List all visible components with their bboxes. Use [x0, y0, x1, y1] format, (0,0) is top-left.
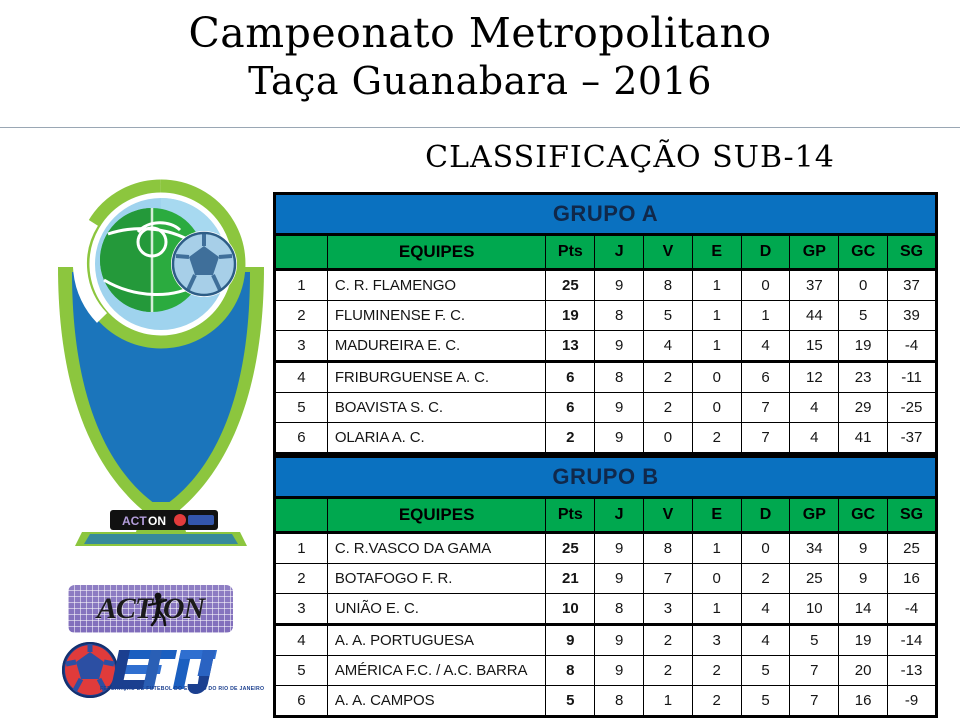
cell-sg: 16	[888, 564, 937, 594]
col-header-d[interactable]: D	[741, 235, 790, 270]
cell-pts: 25	[546, 270, 595, 301]
cell-v: 2	[644, 393, 693, 423]
cell-gp: 7	[790, 656, 839, 686]
cell-e: 2	[692, 656, 741, 686]
standings-page: Campeonato Metropolitano Taça Guanabara …	[0, 0, 960, 720]
ferj-logo-subtitle: FEDERAÇÃO DE FUTEBOL DO ESTADO DO RIO DE…	[100, 686, 268, 692]
table-row[interactable]: 1C. R. FLAMENGO25981037037	[275, 270, 937, 301]
cell-team-name: FRIBURGUENSE A. C.	[327, 362, 546, 393]
cell-v: 8	[644, 270, 693, 301]
cell-sg: 39	[888, 301, 937, 331]
cell-sg: -14	[888, 625, 937, 656]
cell-e: 2	[692, 686, 741, 717]
col-header-team[interactable]: EQUIPES	[327, 498, 546, 533]
col-header-pts[interactable]: Pts	[546, 235, 595, 270]
col-header-pts[interactable]: Pts	[546, 498, 595, 533]
cell-d: 5	[741, 686, 790, 717]
cell-gp: 15	[790, 331, 839, 362]
cell-pts: 19	[546, 301, 595, 331]
cell-team-name: C. R. FLAMENGO	[327, 270, 546, 301]
cell-gc: 41	[839, 423, 888, 454]
cell-d: 0	[741, 270, 790, 301]
cell-pts: 6	[546, 393, 595, 423]
cell-position: 1	[275, 270, 328, 301]
cell-gc: 29	[839, 393, 888, 423]
table-row[interactable]: 4FRIBURGUENSE A. C.682061223-11	[275, 362, 937, 393]
standings-body-group-b: 1C. R.VASCO DA GAMA259810349252BOTAFOGO …	[275, 533, 937, 717]
col-header-gp[interactable]: GP	[790, 235, 839, 270]
cell-position: 4	[275, 362, 328, 393]
svg-text:ACT: ACT	[122, 514, 147, 528]
cell-d: 0	[741, 533, 790, 564]
cell-team-name: UNIÃO E. C.	[327, 594, 546, 625]
cell-sg: -4	[888, 594, 937, 625]
column-header-row: EQUIPES Pts J V E D GP GC SG	[275, 235, 937, 270]
table-row[interactable]: 5BOAVISTA S. C.69207429-25	[275, 393, 937, 423]
cell-e: 3	[692, 625, 741, 656]
cell-gp: 4	[790, 393, 839, 423]
cell-gp: 5	[790, 625, 839, 656]
trophy-logo: ACT ON	[52, 172, 270, 550]
col-header-team[interactable]: EQUIPES	[327, 235, 546, 270]
cell-gc: 9	[839, 564, 888, 594]
col-header-pos[interactable]	[275, 498, 328, 533]
svg-text:ON: ON	[148, 514, 166, 528]
column-header-row: EQUIPES Pts J V E D GP GC SG	[275, 498, 937, 533]
action-logo: ACTION	[68, 585, 233, 633]
cell-d: 5	[741, 656, 790, 686]
cell-sg: -4	[888, 331, 937, 362]
cell-v: 2	[644, 362, 693, 393]
standings-body-group-a: 1C. R. FLAMENGO259810370372FLUMINENSE F.…	[275, 270, 937, 454]
cell-v: 7	[644, 564, 693, 594]
cell-d: 4	[741, 594, 790, 625]
cell-j: 9	[595, 564, 644, 594]
ferj-logo: FEDERAÇÃO DE FUTEBOL DO ESTADO DO RIO DE…	[58, 636, 263, 708]
title-line-1: Campeonato Metropolitano	[0, 8, 960, 58]
cell-team-name: A. A. CAMPOS	[327, 686, 546, 717]
cell-sg: -13	[888, 656, 937, 686]
cell-position: 5	[275, 393, 328, 423]
table-row[interactable]: 6A. A. CAMPOS58125716-9	[275, 686, 937, 717]
cell-gp: 10	[790, 594, 839, 625]
cell-pts: 10	[546, 594, 595, 625]
cell-team-name: BOAVISTA S. C.	[327, 393, 546, 423]
cell-j: 8	[595, 301, 644, 331]
cell-sg: -25	[888, 393, 937, 423]
cell-v: 0	[644, 423, 693, 454]
col-header-j[interactable]: J	[595, 235, 644, 270]
cell-position: 6	[275, 423, 328, 454]
cell-pts: 6	[546, 362, 595, 393]
table-row[interactable]: 3UNIÃO E. C.1083141014-4	[275, 594, 937, 625]
table-row[interactable]: 4A. A. PORTUGUESA99234519-14	[275, 625, 937, 656]
cell-pts: 25	[546, 533, 595, 564]
cell-gc: 23	[839, 362, 888, 393]
cell-d: 7	[741, 393, 790, 423]
runner-icon	[146, 591, 168, 627]
col-header-e[interactable]: E	[692, 235, 741, 270]
cell-e: 0	[692, 393, 741, 423]
cell-gp: 37	[790, 270, 839, 301]
cell-j: 8	[595, 362, 644, 393]
cell-v: 2	[644, 656, 693, 686]
cell-v: 2	[644, 625, 693, 656]
group-title: GRUPO A	[275, 194, 937, 235]
cell-j: 9	[595, 393, 644, 423]
page-title: Campeonato Metropolitano Taça Guanabara …	[0, 8, 960, 104]
cell-d: 1	[741, 301, 790, 331]
cell-d: 2	[741, 564, 790, 594]
col-header-sg[interactable]: SG	[888, 498, 937, 533]
col-header-j[interactable]: J	[595, 498, 644, 533]
cell-j: 8	[595, 686, 644, 717]
cell-d: 7	[741, 423, 790, 454]
cell-sg: -37	[888, 423, 937, 454]
cell-position: 6	[275, 686, 328, 717]
cell-e: 1	[692, 270, 741, 301]
cell-position: 1	[275, 533, 328, 564]
cell-e: 1	[692, 331, 741, 362]
cell-gc: 9	[839, 533, 888, 564]
cell-pts: 13	[546, 331, 595, 362]
group-title-row: GRUPO B	[275, 457, 937, 498]
cell-team-name: AMÉRICA F.C. / A.C. BARRA	[327, 656, 546, 686]
cell-team-name: A. A. PORTUGUESA	[327, 625, 546, 656]
col-header-gp[interactable]: GP	[790, 498, 839, 533]
cell-e: 1	[692, 594, 741, 625]
cell-j: 8	[595, 594, 644, 625]
table-row[interactable]: 2FLUMINENSE F. C.19851144539	[275, 301, 937, 331]
table-row[interactable]: 3MADUREIRA E. C.1394141519-4	[275, 331, 937, 362]
cell-team-name: OLARIA A. C.	[327, 423, 546, 454]
cell-e: 2	[692, 423, 741, 454]
cell-position: 3	[275, 594, 328, 625]
group-title: GRUPO B	[275, 457, 937, 498]
cell-j: 9	[595, 331, 644, 362]
cell-gp: 44	[790, 301, 839, 331]
cell-pts: 5	[546, 686, 595, 717]
cell-pts: 9	[546, 625, 595, 656]
cell-position: 4	[275, 625, 328, 656]
cell-v: 4	[644, 331, 693, 362]
cell-gp: 12	[790, 362, 839, 393]
cell-sg: -11	[888, 362, 937, 393]
col-header-sg[interactable]: SG	[888, 235, 937, 270]
cell-gp: 7	[790, 686, 839, 717]
col-header-gc[interactable]: GC	[839, 235, 888, 270]
cell-e: 0	[692, 362, 741, 393]
cell-position: 3	[275, 331, 328, 362]
cell-gc: 14	[839, 594, 888, 625]
cell-position: 2	[275, 301, 328, 331]
cell-j: 9	[595, 625, 644, 656]
cell-j: 9	[595, 423, 644, 454]
table-row[interactable]: 2BOTAFOGO F. R.21970225916	[275, 564, 937, 594]
cell-e: 1	[692, 533, 741, 564]
cell-e: 0	[692, 564, 741, 594]
standings-table-group-a: GRUPO A EQUIPES Pts J V E D GP GC SG 1C.…	[273, 192, 938, 455]
cell-team-name: MADUREIRA E. C.	[327, 331, 546, 362]
cell-gc: 19	[839, 331, 888, 362]
cell-sg: 37	[888, 270, 937, 301]
cell-gc: 20	[839, 656, 888, 686]
cell-j: 9	[595, 533, 644, 564]
group-title-row: GRUPO A	[275, 194, 937, 235]
cell-j: 9	[595, 270, 644, 301]
table-row[interactable]: 6OLARIA A. C.29027441-37	[275, 423, 937, 454]
cell-pts: 8	[546, 656, 595, 686]
cell-v: 1	[644, 686, 693, 717]
cell-d: 6	[741, 362, 790, 393]
cell-e: 1	[692, 301, 741, 331]
cell-d: 4	[741, 625, 790, 656]
cell-team-name: BOTAFOGO F. R.	[327, 564, 546, 594]
col-header-pos[interactable]	[275, 235, 328, 270]
col-header-v[interactable]: V	[644, 235, 693, 270]
standings-table-group-b: GRUPO B EQUIPES Pts J V E D GP GC SG 1C.…	[273, 455, 938, 718]
cell-d: 4	[741, 331, 790, 362]
table-row[interactable]: 5AMÉRICA F.C. / A.C. BARRA89225720-13	[275, 656, 937, 686]
table-row[interactable]: 1C. R.VASCO DA GAMA25981034925	[275, 533, 937, 564]
header-divider	[0, 127, 960, 128]
cell-team-name: C. R.VASCO DA GAMA	[327, 533, 546, 564]
cell-sg: -9	[888, 686, 937, 717]
col-header-v[interactable]: V	[644, 498, 693, 533]
cell-pts: 2	[546, 423, 595, 454]
cell-team-name: FLUMINENSE F. C.	[327, 301, 546, 331]
cell-gc: 19	[839, 625, 888, 656]
title-line-2: Taça Guanabara – 2016	[0, 58, 960, 104]
cell-v: 5	[644, 301, 693, 331]
cell-gp: 4	[790, 423, 839, 454]
cell-position: 5	[275, 656, 328, 686]
cell-sg: 25	[888, 533, 937, 564]
cell-v: 3	[644, 594, 693, 625]
cell-gc: 0	[839, 270, 888, 301]
col-header-gc[interactable]: GC	[839, 498, 888, 533]
cell-pts: 21	[546, 564, 595, 594]
page-subtitle: CLASSIFICAÇÃO SUB-14	[360, 139, 900, 177]
col-header-d[interactable]: D	[741, 498, 790, 533]
cell-gc: 16	[839, 686, 888, 717]
cell-j: 9	[595, 656, 644, 686]
cell-position: 2	[275, 564, 328, 594]
cell-gc: 5	[839, 301, 888, 331]
cell-gp: 25	[790, 564, 839, 594]
col-header-e[interactable]: E	[692, 498, 741, 533]
cell-gp: 34	[790, 533, 839, 564]
cell-v: 8	[644, 533, 693, 564]
